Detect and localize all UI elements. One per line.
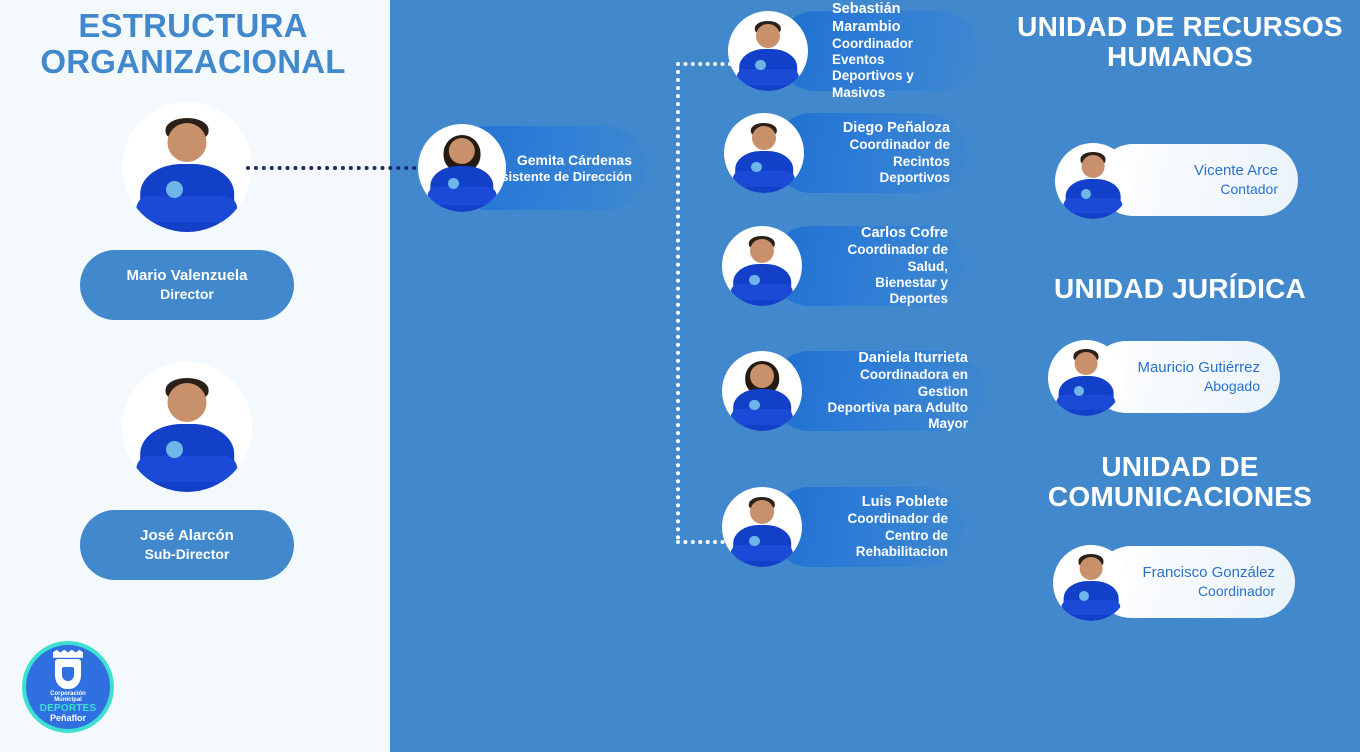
- person-role-line1: Coordinador Eventos: [832, 36, 962, 68]
- avatar-sebastian-marambio: [728, 11, 808, 91]
- person-role-line2: Rehabilitacion: [826, 544, 948, 560]
- person-role-line2: Bienestar y Deportes: [826, 275, 948, 307]
- person-name: Diego Peñaloza: [828, 120, 950, 137]
- avatar-gemita-cardenas: [418, 124, 506, 212]
- unit-heading-juridica: UNIDAD JURÍDICA: [1000, 274, 1360, 304]
- person-card-coordinator-salud[interactable]: Carlos Cofre Coordinador de Salud, Biene…: [722, 226, 964, 306]
- person-name: Gemita Cárdenas: [492, 152, 632, 169]
- person-name: Luis Poblete: [826, 494, 948, 511]
- corporation-logo[interactable]: Corporación Municipal DEPORTES Peñaflor: [22, 641, 114, 733]
- person-name: Daniela Iturrieta: [826, 350, 968, 367]
- avatar-jose-alarcon: [122, 362, 252, 492]
- logo-line-4: Peñaflor: [50, 714, 86, 724]
- avatar-carlos-cofre: [722, 226, 802, 306]
- unit-heading-comunicaciones: UNIDAD DE COMUNICACIONES: [1000, 452, 1360, 512]
- person-role: Contador: [1194, 181, 1278, 199]
- avatar-luis-poblete: [722, 487, 802, 567]
- crown-icon: [53, 650, 83, 658]
- person-name: Carlos Cofre: [826, 225, 948, 242]
- unit-heading-recursos-humanos: UNIDAD DE RECURSOS HUMANOS: [1000, 12, 1360, 72]
- person-role-line1: Coordinadora en Gestion: [826, 367, 968, 399]
- coordinator-pill: Daniela Iturrieta Coordinadora en Gestio…: [770, 351, 984, 431]
- person-name: Vicente Arce: [1194, 162, 1278, 181]
- org-chart-canvas: ESTRUCTURA ORGANIZACIONAL Mario Valenzue…: [0, 0, 1360, 752]
- person-card-director[interactable]: Mario Valenzuela Director: [80, 102, 294, 320]
- avatar-vicente-arce: [1055, 143, 1131, 219]
- person-card-unit-abogado[interactable]: Mauricio Gutiérrez Abogado: [1048, 341, 1280, 413]
- name-pill-sub-director: José Alarcón Sub-Director: [80, 510, 294, 580]
- person-role-line2: Deportivos y Masivos: [832, 68, 962, 100]
- person-role: Asistente de Dirección: [492, 169, 632, 185]
- person-card-unit-comunicaciones[interactable]: Francisco González Coordinador: [1053, 546, 1295, 618]
- person-card-assistant[interactable]: Gemita Cárdenas Asistente de Dirección: [418, 126, 646, 210]
- person-name: Sebastián Marambio: [832, 1, 962, 36]
- name-pill-director: Mario Valenzuela Director: [80, 250, 294, 320]
- person-role: Coordinador: [1142, 583, 1275, 601]
- avatar-diego-penaloza: [724, 113, 804, 193]
- person-card-sub-director[interactable]: José Alarcón Sub-Director: [80, 362, 294, 580]
- person-role: Abogado: [1137, 378, 1260, 396]
- person-role: Sub-Director: [145, 546, 230, 564]
- person-role-line2: Deportivos: [828, 170, 950, 186]
- person-role-line2: Deportiva para Adulto Mayor: [826, 400, 968, 432]
- person-role-line1: Coordinador de Recintos: [828, 137, 950, 169]
- person-card-unit-contador[interactable]: Vicente Arce Contador: [1055, 144, 1298, 216]
- avatar-mario-valenzuela: [122, 102, 252, 232]
- person-role: Director: [160, 286, 214, 304]
- avatar-francisco-gonzalez: [1053, 545, 1129, 621]
- person-card-coordinator-adulto-mayor[interactable]: Daniela Iturrieta Coordinadora en Gestio…: [722, 351, 984, 431]
- avatar-daniela-iturrieta: [722, 351, 802, 431]
- shield-icon: [55, 659, 81, 689]
- person-name: Mario Valenzuela: [127, 267, 248, 286]
- person-card-coordinator-rehabilitacion[interactable]: Luis Poblete Coordinador de Centro de Re…: [722, 487, 964, 567]
- person-role-line1: Coordinador de Salud,: [826, 242, 948, 274]
- person-role-line1: Coordinador de Centro de: [826, 511, 948, 543]
- person-name: Francisco González: [1142, 564, 1275, 583]
- person-name: Mauricio Gutiérrez: [1137, 359, 1260, 378]
- person-name: José Alarcón: [140, 527, 234, 546]
- page-title: ESTRUCTURA ORGANIZACIONAL: [0, 8, 386, 79]
- person-card-coordinator-eventos[interactable]: Sebastián Marambio Coordinador Eventos D…: [728, 11, 978, 91]
- person-card-coordinator-recintos[interactable]: Diego Peñaloza Coordinador de Recintos D…: [724, 113, 966, 193]
- avatar-mauricio-gutierrez: [1048, 340, 1124, 416]
